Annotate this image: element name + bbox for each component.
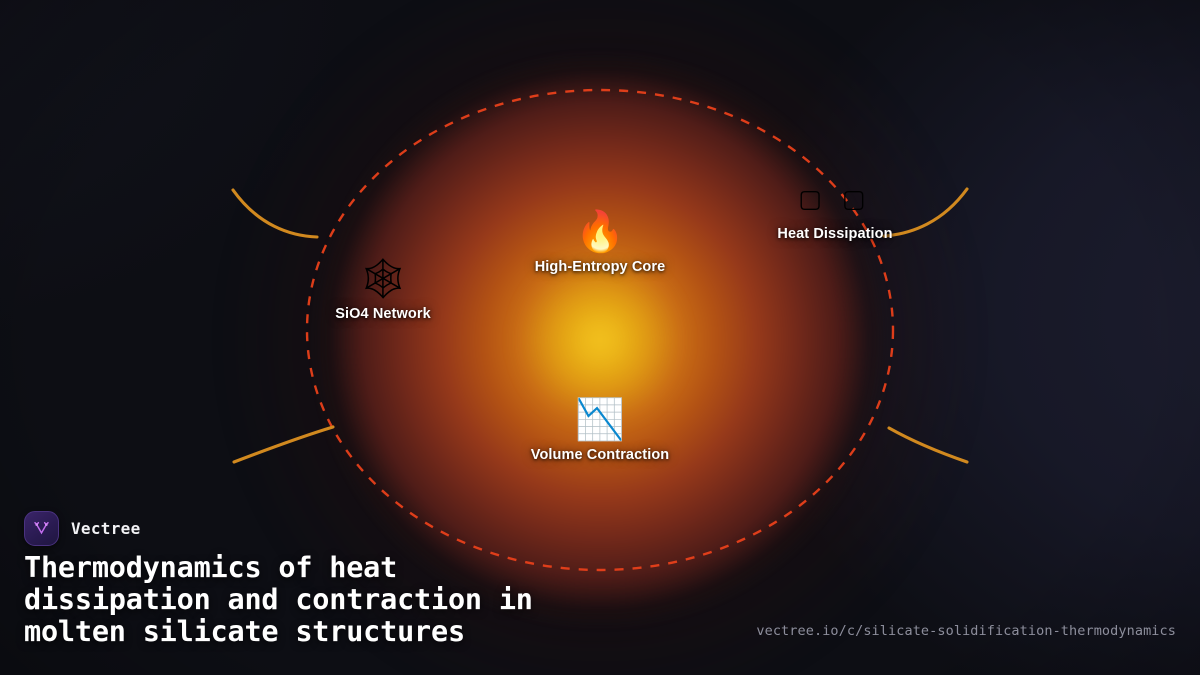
node-label: SiO4 Network — [273, 306, 493, 322]
fire-icon: 🔥 — [490, 209, 710, 255]
chart-decreasing-icon: 📉 — [490, 397, 710, 443]
brand-block: Vectree — [24, 511, 141, 546]
page-title: Thermodynamics of heat dissipation and c… — [24, 552, 724, 648]
infographic-canvas: 🔥 High-Entropy Core 🕸 SiO4 Network ▢ ▢ H… — [0, 0, 1200, 675]
node-label: Volume Contraction — [490, 447, 710, 463]
node-heat-dissipation[interactable]: ▢ ▢ Heat Dissipation — [725, 176, 945, 242]
arc-bottom-right — [889, 428, 967, 462]
node-label: Heat Dissipation — [725, 226, 945, 242]
vectree-logo-icon — [24, 511, 59, 546]
node-volume-contraction[interactable]: 📉 Volume Contraction — [490, 397, 710, 463]
arc-top-left — [233, 190, 317, 237]
node-high-entropy-core[interactable]: 🔥 High-Entropy Core — [490, 209, 710, 275]
molten-glow-core — [310, 50, 890, 630]
brand-name: Vectree — [71, 519, 141, 538]
node-label: High-Entropy Core — [490, 259, 710, 275]
spider-web-icon: 🕸 — [273, 256, 493, 302]
dashed-boundary-circle — [307, 90, 893, 570]
molten-glow-hotspot — [525, 265, 675, 415]
footer-url: vectree.io/c/silicate-solidification-the… — [756, 623, 1176, 639]
arc-bottom-left — [234, 427, 333, 462]
node-sio4-network[interactable]: 🕸 SiO4 Network — [273, 256, 493, 322]
missing-glyph-icon: ▢ ▢ — [725, 176, 945, 222]
